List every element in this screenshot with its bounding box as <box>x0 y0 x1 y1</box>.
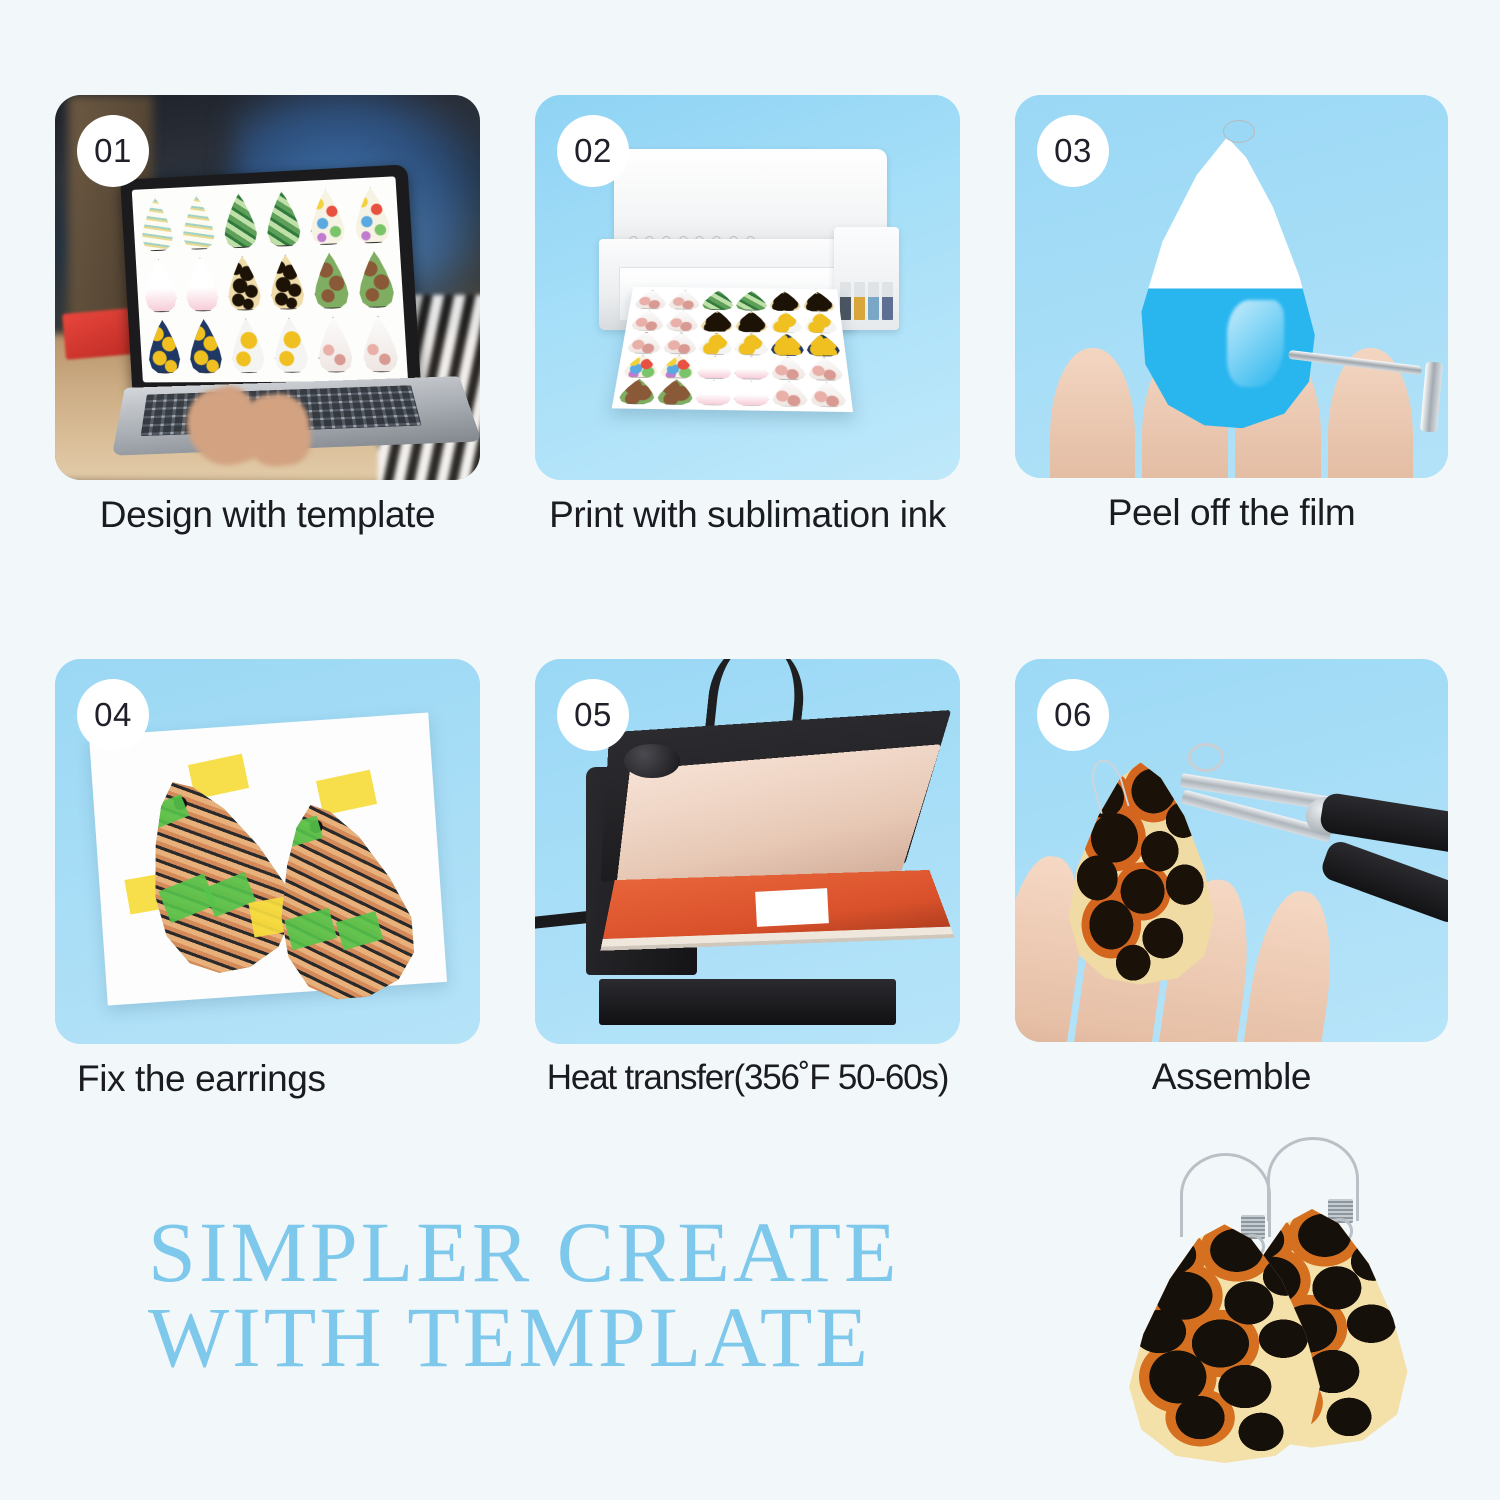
teardrop-design-script-lettering <box>142 258 178 312</box>
ink-tank-yellow <box>854 282 864 319</box>
leopard-teardrop-pendant <box>1123 1224 1326 1463</box>
teardrop-hanging-hole <box>1223 120 1255 143</box>
step-card-04: 04 Fix the earrings <box>55 659 480 1100</box>
teardrop-design-glitter-leopard <box>315 317 354 373</box>
step-card-06: 06 Assemble <box>1015 659 1448 1100</box>
printed-teardrop <box>667 290 701 310</box>
teardrop-design-palm-leaf <box>221 193 258 249</box>
printed-teardrop <box>655 379 694 405</box>
step-number-badge: 01 <box>77 115 149 187</box>
step-caption: Heat transfer(356˚F 50-60s) <box>535 1058 960 1098</box>
teardrop-design-leopard <box>225 256 262 311</box>
teardrop-design-its-a-good-day <box>139 197 175 252</box>
laptop-lid <box>120 164 422 400</box>
step-photo-heat-transfer: 05 <box>535 659 960 1044</box>
printed-sublimation-sheet <box>612 286 853 411</box>
headline-line-2: WITH TEMPLATE <box>148 1295 900 1380</box>
teardrop-design-leopard <box>268 254 306 310</box>
step-card-03: 03 Peel off the film <box>1015 95 1448 536</box>
pressure-adjustment-knob[interactable] <box>624 744 679 779</box>
printed-teardrop <box>734 311 768 332</box>
teardrop-design-sunflower-white <box>229 318 267 373</box>
printed-teardrop <box>801 291 836 311</box>
teardrop-design-palm-leaf <box>264 191 302 247</box>
plier-handle-lower <box>1319 838 1448 926</box>
printed-teardrop <box>659 354 697 378</box>
step-photo-fix-the-earrings: 04 <box>55 659 480 1044</box>
printed-teardrop <box>664 310 699 331</box>
steps-grid: 01 Design with template <box>55 95 1448 1100</box>
printed-teardrop <box>626 331 664 354</box>
printed-teardrop <box>804 333 841 356</box>
step-number-badge: 02 <box>557 115 629 187</box>
step-number-badge: 04 <box>77 679 149 751</box>
ink-tank-black <box>840 282 850 319</box>
printed-teardrop <box>699 310 733 331</box>
teardrop-design-glitter-leopard <box>360 316 400 373</box>
film-gloss-highlight <box>1227 300 1284 387</box>
white-substrate-sheet <box>755 888 829 926</box>
printed-teardrop <box>803 312 839 333</box>
printed-teardrop <box>770 356 807 380</box>
step-number-badge: 03 <box>1037 115 1109 187</box>
laptop-screen-template-grid <box>131 177 408 383</box>
printed-teardrop <box>733 380 770 406</box>
teardrop-design-smiley-faces <box>307 189 346 246</box>
printed-teardrop <box>701 290 734 310</box>
jewelry-pliers <box>1162 751 1448 950</box>
printed-teardrop <box>696 355 733 379</box>
printed-teardrop <box>806 356 844 380</box>
step-caption: Assemble <box>1015 1056 1448 1098</box>
printed-teardrop <box>617 378 657 404</box>
step-caption: Design with template <box>55 494 480 536</box>
step-photo-print-with-sublimation-ink: 02 <box>535 95 960 480</box>
printed-teardrop <box>808 381 848 407</box>
teardrop-design-script-lettering <box>183 257 220 312</box>
finger <box>1050 348 1135 478</box>
printed-teardrop <box>633 289 668 309</box>
earring-front <box>1123 1224 1326 1463</box>
teardrop-design-smiley-faces <box>352 186 392 244</box>
printed-teardrop <box>733 355 769 379</box>
teardrop-design-its-a-good-day <box>179 195 216 250</box>
step-card-05: 05 Heat transfer(356˚F 50-60s) <box>535 659 960 1100</box>
step-photo-assemble: 06 <box>1015 659 1448 1042</box>
ink-tank-row <box>840 282 892 319</box>
printed-teardrop <box>734 332 769 355</box>
printed-teardrop <box>769 333 805 356</box>
step-card-01: 01 Design with template <box>55 95 480 536</box>
printed-teardrop <box>621 354 660 378</box>
step-card-02: 02 Print with sublimation ink <box>535 95 960 536</box>
printed-teardrop <box>698 332 734 355</box>
ink-tank-magenta <box>882 282 892 319</box>
printed-teardrop <box>768 291 801 311</box>
step-photo-peel-off-the-film: 03 <box>1015 95 1448 478</box>
printer-ink-tank-unit <box>834 227 899 330</box>
headline: SIMPLER CREATE WITH TEMPLATE <box>148 1210 900 1380</box>
step-number-badge: 05 <box>557 679 629 751</box>
printed-teardrop <box>629 309 665 330</box>
teardrop-design-cactus <box>311 253 350 309</box>
headline-line-1: SIMPLER CREATE <box>148 1204 900 1300</box>
step-number-badge: 06 <box>1037 679 1109 751</box>
ink-tank-cyan <box>868 282 878 319</box>
printed-teardrop <box>735 290 768 310</box>
printed-teardrop <box>662 331 699 354</box>
step-caption: Peel off the film <box>1015 492 1448 534</box>
peeling-hook-tool <box>1288 332 1444 432</box>
step-caption: Print with sublimation ink <box>535 494 960 536</box>
printed-teardrop <box>694 379 732 405</box>
teardrop-design-sunflower-white <box>271 317 309 372</box>
product-shot-earrings-pair <box>1095 1105 1445 1490</box>
printed-teardrop <box>769 311 804 332</box>
heat-press-base-frame <box>599 979 897 1025</box>
printed-teardrop <box>771 381 809 407</box>
teardrop-design-sunflower-navy <box>187 319 224 373</box>
step-photo-design-with-template: 01 <box>55 95 480 480</box>
laptop <box>119 172 468 472</box>
teardrop-design-sunflower-navy <box>146 320 182 374</box>
step-caption: Fix the earrings <box>55 1058 480 1100</box>
teardrop-design-cactus <box>356 251 396 308</box>
